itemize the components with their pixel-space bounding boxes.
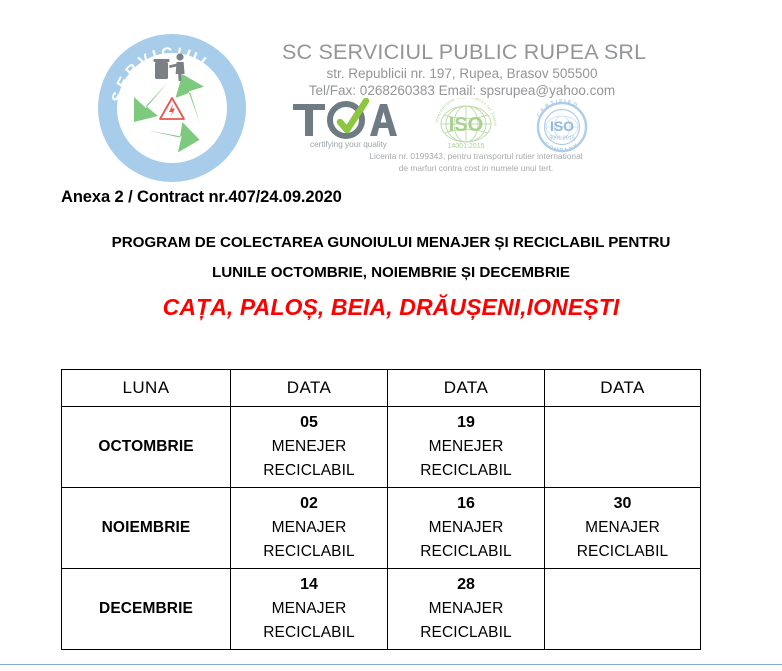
table-row: NOIEMBRIE 02 MENAJER RECICLABIL 16 MENAJ… [62, 488, 701, 569]
svg-text:CERTIFIED: CERTIFIED [536, 99, 579, 118]
license-line-1: Licenta nr. 0199343, pentru transportul … [330, 151, 622, 163]
localities-subtitle: CAȚA, PALOȘ, BEIA, DRĂUȘENI,IONEȘTI [0, 294, 782, 321]
waste-type-reciclabil: RECICLABIL [231, 459, 387, 483]
waste-type-menajer: MENAJER [545, 516, 700, 540]
certification-logos: certifying your quality [282, 96, 642, 154]
column-header-data-2: DATA [388, 370, 545, 407]
table-row: OCTOMBRIE 05 MENEJER RECICLABIL 19 MENEJ… [62, 407, 701, 488]
collection-date-cell: 02 MENAJER RECICLABIL [231, 488, 388, 569]
collection-date-cell: 14 MENAJER RECICLABIL [231, 569, 388, 650]
collection-day: 19 [388, 411, 544, 435]
collection-date-cell: 30 MENAJER RECICLABIL [545, 488, 701, 569]
page-bottom-divider [0, 664, 782, 665]
iso-9001-certified-company-seal: CERTIFIED COMPANY ISO 9001:2015 [530, 96, 594, 154]
page-title-line-2: LUNILE OCTOMBRIE, NOIEMBRIE ȘI DECEMBRIE [0, 258, 782, 288]
table-row: DECEMBRIE 14 MENAJER RECICLABIL 28 MENAJ… [62, 569, 701, 650]
month-name: NOIEMBRIE [62, 488, 231, 569]
serviciul-public-rupea-logo: SERVICIUL PUBLIC RUPEA [96, 32, 248, 184]
waste-type-menajer: MENAJER [388, 597, 544, 621]
waste-type-menajer: MENEJER [231, 435, 387, 459]
collection-date-cell-empty [545, 569, 701, 650]
waste-type-reciclabil: RECICLABIL [545, 540, 700, 564]
page-title: PROGRAM DE COLECTAREA GUNOIULUI MENAJER … [0, 228, 782, 289]
collection-date-cell: 19 MENEJER RECICLABIL [388, 407, 545, 488]
waste-type-menajer: MENAJER [388, 516, 544, 540]
license-line-2: de marfuri contra cost in numele unui te… [330, 163, 622, 175]
company-name: SC SERVICIUL PUBLIC RUPEA SRL [282, 40, 642, 65]
document-header: SERVICIUL PUBLIC RUPEA [0, 0, 782, 180]
collection-day: 05 [231, 411, 387, 435]
tqa-certification-logo: certifying your quality [290, 98, 408, 150]
waste-type-reciclabil: RECICLABIL [231, 540, 387, 564]
collection-day: 16 [388, 492, 544, 516]
collection-date-cell-empty [545, 407, 701, 488]
collection-day: 30 [545, 492, 700, 516]
month-name: DECEMBRIE [62, 569, 231, 650]
iso-wordmark: ISO [449, 114, 483, 136]
collection-day: 28 [388, 573, 544, 597]
collection-day: 14 [231, 573, 387, 597]
collection-day: 02 [231, 492, 387, 516]
waste-type-reciclabil: RECICLABIL [231, 621, 387, 645]
column-header-data-3: DATA [545, 370, 701, 407]
iso-standard-number: 9001:2015 [549, 136, 574, 142]
iso-14001-badge: International Organization for Standardi… [430, 98, 502, 152]
collection-date-cell: 28 MENAJER RECICLABIL [388, 569, 545, 650]
column-header-data-1: DATA [231, 370, 388, 407]
collection-date-cell: 16 MENAJER RECICLABIL [388, 488, 545, 569]
collection-date-cell: 05 MENEJER RECICLABIL [231, 407, 388, 488]
company-address: str. Republicii nr. 197, Rupea, Brasov 5… [282, 66, 642, 83]
month-name: OCTOMBRIE [62, 407, 231, 488]
column-header-luna: LUNA [62, 370, 231, 407]
table-header-row: LUNA DATA DATA DATA [62, 370, 701, 407]
page-title-line-1: PROGRAM DE COLECTAREA GUNOIULUI MENAJER … [0, 228, 782, 258]
tqa-tagline: certifying your quality [310, 140, 388, 149]
waste-type-menajer: MENAJER [231, 516, 387, 540]
waste-type-reciclabil: RECICLABIL [388, 459, 544, 483]
iso-wordmark: ISO [550, 118, 574, 134]
waste-type-menajer: MENEJER [388, 435, 544, 459]
anexa-contract-reference: Anexa 2 / Contract nr.407/24.09.2020 [61, 188, 342, 207]
iso-standard-number: 14001:2015 [448, 143, 485, 150]
collection-schedule-table: LUNA DATA DATA DATA OCTOMBRIE 05 MENEJER… [61, 369, 700, 650]
company-identity-block: SC SERVICIUL PUBLIC RUPEA SRL str. Repub… [282, 40, 642, 100]
license-note: Licenta nr. 0199343, pentru transportul … [330, 151, 622, 174]
waste-type-reciclabil: RECICLABIL [388, 540, 544, 564]
waste-type-menajer: MENAJER [231, 597, 387, 621]
waste-type-reciclabil: RECICLABIL [388, 621, 544, 645]
